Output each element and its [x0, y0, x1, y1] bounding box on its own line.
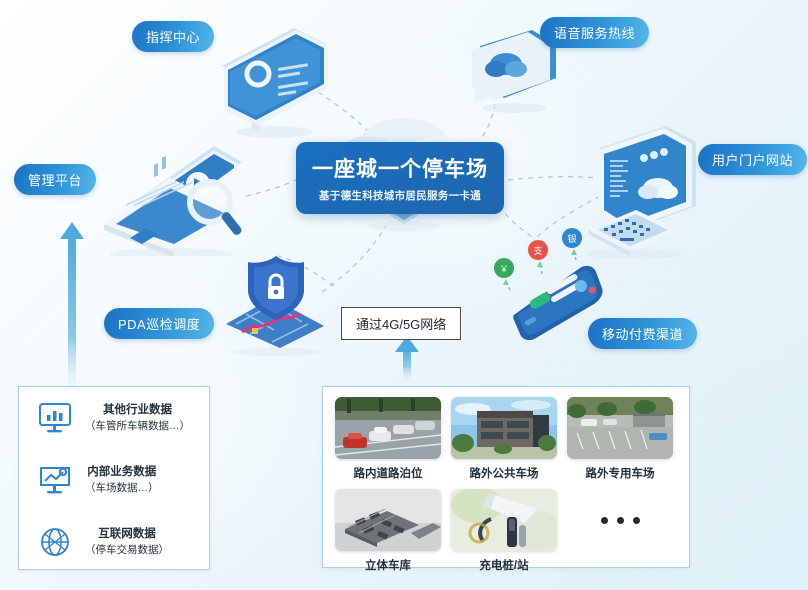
gallery-caption: 路内道路泊位: [354, 465, 423, 481]
banner-subtitle: 基于德生科技城市居民服务一卡通: [319, 188, 481, 203]
gallery-caption: 路外专用车场: [586, 465, 655, 481]
shield-lock-map-device: [216, 252, 338, 356]
banner-title: 一座城一个停车场: [312, 153, 488, 183]
globe-network-icon: [35, 525, 75, 559]
gallery-row: 立体车库 充电: [335, 489, 677, 573]
monitor-line-chart-icon: [35, 464, 75, 496]
gallery-caption: 充电桩/站: [479, 557, 528, 573]
label-management-platform[interactable]: 管理平台: [14, 164, 96, 195]
data-source-title: 其他行业数据: [103, 403, 172, 419]
data-source-row[interactable]: 内部业务数据 （车场数据…）: [19, 449, 209, 511]
data-source-detail: （车管所车辆数据…）: [85, 419, 190, 433]
svg-text:银: 银: [567, 233, 576, 244]
center-banner: 一座城一个停车场 基于德生科技城市居民服务一卡通: [296, 142, 504, 214]
gallery-row: 路内道路泊位: [335, 397, 677, 481]
ellipsis-more-icon: [567, 489, 673, 551]
laptop-video-device: [92, 132, 252, 256]
monitor-bar-chart-icon: [35, 402, 75, 434]
svg-text:支: 支: [533, 245, 542, 256]
label-network[interactable]: 通过4G/5G网络: [341, 307, 461, 340]
gear-monitor-device: [212, 22, 334, 138]
data-source-row[interactable]: 其他行业数据 （车管所车辆数据…）: [19, 387, 209, 449]
data-source-row[interactable]: 互联网数据 （停车交易数据）: [19, 511, 209, 573]
data-source-text: 互联网数据 （停车交易数据）: [85, 527, 169, 557]
gallery-caption: 立体车库: [365, 557, 411, 573]
label-user-portal[interactable]: 用户门户网站: [698, 144, 807, 175]
label-command-center[interactable]: 指挥中心: [132, 21, 214, 52]
public-parking-building-photo: [451, 397, 557, 459]
data-source-detail: （车场数据…）: [85, 481, 159, 495]
dedicated-parking-lot-photo: [567, 397, 673, 459]
svg-text:￥: ￥: [499, 264, 508, 274]
ev-charging-photo: [451, 489, 557, 551]
label-voice-hotline[interactable]: 语音服务热线: [540, 17, 649, 48]
street-parking-photo: [335, 397, 441, 459]
network-flow-arrow: [394, 336, 420, 380]
data-source-detail: （停车交易数据）: [85, 543, 169, 557]
infographic-canvas: ￥ 支 银 一座城一个停车场 基于德生科技城市居民服务一卡通 指挥中: [0, 0, 808, 590]
data-sources-panel: 其他行业数据 （车管所车辆数据…） 内部业务数据 （车场数据…）: [18, 386, 210, 570]
parking-types-panel: 路内道路泊位: [322, 386, 690, 568]
gallery-item[interactable]: 路内道路泊位: [335, 397, 441, 481]
gallery-item[interactable]: 路外专用车场: [567, 397, 673, 481]
label-pda-dispatch[interactable]: PDA巡检调度: [104, 308, 214, 339]
multilevel-garage-photo: [335, 489, 441, 551]
data-flow-arrow-left: [58, 222, 86, 390]
gallery-item[interactable]: 立体车库: [335, 489, 441, 573]
data-source-title: 内部业务数据: [87, 465, 156, 481]
data-source-title: 互联网数据: [98, 527, 156, 543]
gallery-item[interactable]: 充电桩/站: [451, 489, 557, 573]
data-source-text: 内部业务数据 （车场数据…）: [85, 465, 159, 495]
gallery-item[interactable]: 路外公共车场: [451, 397, 557, 481]
gallery-caption: 路外公共车场: [470, 465, 539, 481]
label-mobile-payment[interactable]: 移动付费渠道: [588, 318, 697, 349]
data-source-text: 其他行业数据 （车管所车辆数据…）: [85, 403, 190, 433]
gallery-item-more[interactable]: [567, 489, 673, 573]
